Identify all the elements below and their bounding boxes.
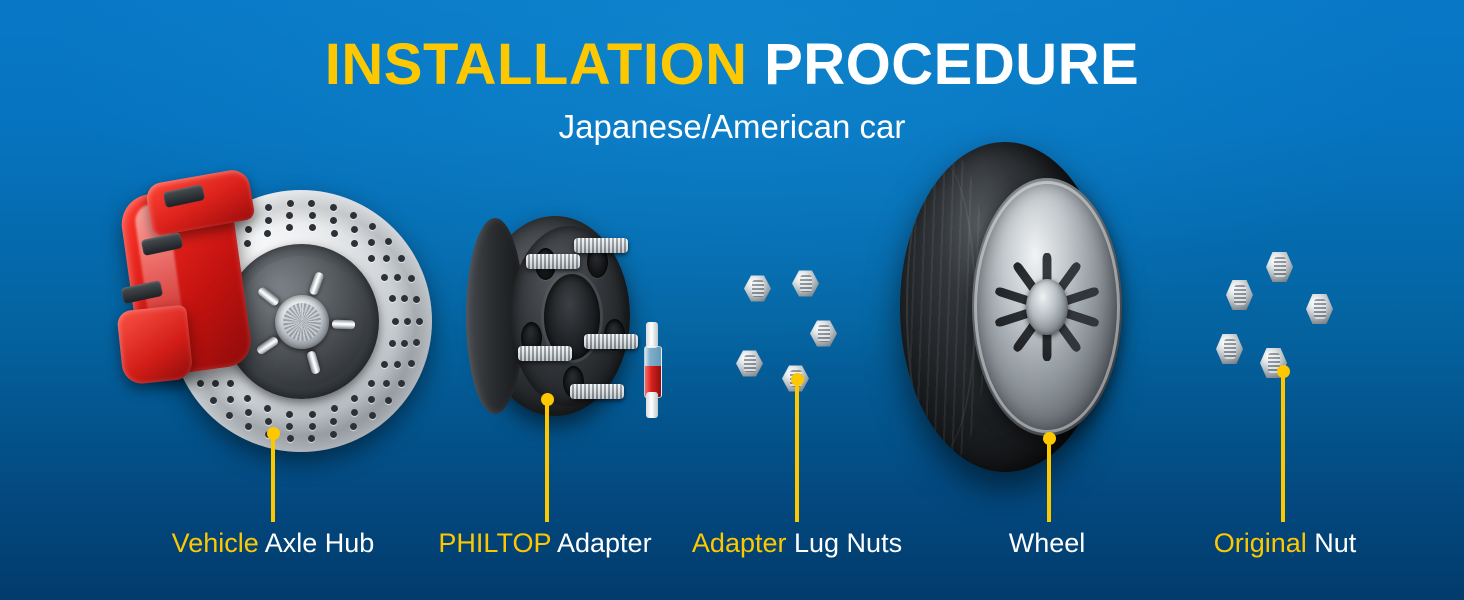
lug-nut xyxy=(792,270,819,297)
label-rest: Lug Nuts xyxy=(794,528,902,558)
threadlocker-cap-bottom xyxy=(646,392,658,418)
threadlocker-cap-top xyxy=(646,322,658,348)
leader-dot xyxy=(267,427,280,440)
label-highlight: Vehicle xyxy=(172,528,259,558)
adapter-stud xyxy=(584,334,638,349)
label-rest: Axle Hub xyxy=(265,528,375,558)
alloy-rim xyxy=(972,178,1122,436)
hub-stud xyxy=(332,319,355,329)
title-rest: PROCEDURE xyxy=(764,32,1139,97)
lug-nut xyxy=(1226,280,1253,310)
label-wheel: Wheel xyxy=(1009,528,1086,558)
wheel-spacer-adapter-icon xyxy=(466,216,676,431)
label-rest: Wheel xyxy=(1009,528,1086,558)
label-highlight: PHILTOP xyxy=(438,528,551,558)
lug-nut xyxy=(1306,294,1333,324)
threadlocker-barrel xyxy=(644,346,662,398)
lug-nut-icon xyxy=(730,265,840,390)
header: INSTALLATION PROCEDURE Japanese/American… xyxy=(0,0,1464,144)
lug-nut xyxy=(744,275,771,302)
adapter-stud xyxy=(518,346,572,361)
page-subtitle: Japanese/American car xyxy=(0,94,1464,144)
lug-nut xyxy=(1216,334,1243,364)
label-original-nut: Original Nut xyxy=(1214,528,1357,558)
threadlocker-tube-icon xyxy=(644,322,660,418)
label-rest: Nut xyxy=(1314,528,1356,558)
caliper-bridge xyxy=(144,167,255,236)
title-highlight: INSTALLATION xyxy=(325,32,748,97)
infographic-canvas: INSTALLATION PROCEDURE Japanese/American… xyxy=(0,0,1464,600)
label-vehicle-axle-hub: Vehicle Axle Hub xyxy=(172,528,375,558)
hub-center-bore xyxy=(275,295,329,349)
adapter-stud xyxy=(526,254,580,269)
tire-wheel-icon xyxy=(900,142,1145,472)
leader-line-original-nut xyxy=(1281,370,1285,522)
adapter-stud xyxy=(574,238,628,253)
adapter-stud xyxy=(570,384,624,399)
page-title: INSTALLATION PROCEDURE xyxy=(0,0,1464,94)
brake-rotor-caliper-icon xyxy=(112,170,402,470)
leader-dot xyxy=(541,393,554,406)
label-rest: Adapter xyxy=(557,528,652,558)
label-philtop-adapter: PHILTOP Adapter xyxy=(438,528,651,558)
leader-dot xyxy=(1043,432,1056,445)
leader-line-wheel xyxy=(1047,437,1051,522)
lug-nut-icon xyxy=(1208,252,1338,392)
label-highlight: Original xyxy=(1214,528,1307,558)
leader-dot xyxy=(791,373,804,386)
label-adapter-lug-nuts: Adapter Lug Nuts xyxy=(692,528,902,558)
leader-line-adapter-lug-nuts xyxy=(795,378,799,522)
lug-nut xyxy=(736,350,763,377)
label-highlight: Adapter xyxy=(692,528,787,558)
rim-center-cap xyxy=(1026,279,1068,335)
leader-dot xyxy=(1277,365,1290,378)
tire-sidewall-grooves xyxy=(906,162,976,452)
brake-caliper xyxy=(112,176,260,391)
caliper-lower-arm xyxy=(116,305,193,386)
leader-line-philtop-adapter xyxy=(545,398,549,522)
lug-nut xyxy=(1266,252,1293,282)
leader-line-vehicle-axle-hub xyxy=(271,432,275,522)
lug-nut xyxy=(810,320,837,347)
